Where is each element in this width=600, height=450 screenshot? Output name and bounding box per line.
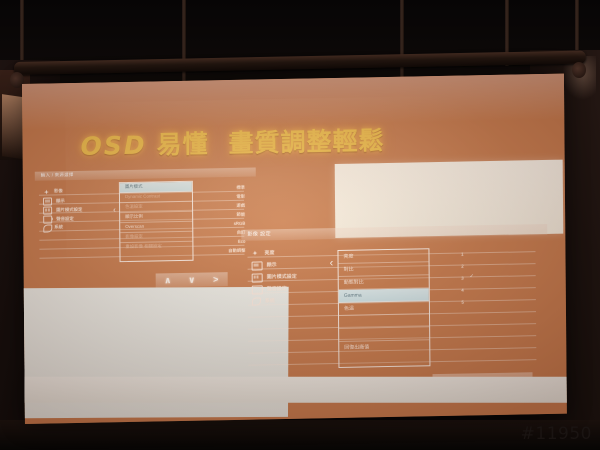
osd-item-label: 圖片模式設定 <box>56 207 82 212</box>
wrench-icon <box>43 224 50 230</box>
page-title: OSD易懂畫質調整輕鬆 <box>80 119 500 161</box>
nav-up-button[interactable]: ∧ <box>156 276 180 285</box>
nav-right-button[interactable]: > <box>204 275 228 284</box>
osd-item-input[interactable]: 影像 <box>43 188 63 195</box>
brightness-diamond-icon <box>251 249 260 258</box>
osd-menu-panel-1[interactable]: 輸入 / 來源選擇 影像 顯示 圖片模式設定 <box>35 168 251 292</box>
osd-item-picture-settings[interactable]: 圖片模式設定 <box>43 206 82 214</box>
osd-item-label: 影像 <box>54 190 63 195</box>
page-title-cjk-1: 易懂 <box>156 129 208 159</box>
wrench-icon <box>252 297 261 305</box>
osd-header-1: 輸入 / 來源選擇 <box>35 168 256 181</box>
osd-submenu-row[interactable]: 重設影像 相關設定 <box>120 242 192 252</box>
speaker-icon <box>252 285 263 294</box>
monitor-icon <box>43 197 52 205</box>
osd-header-title: 影像 設定 <box>247 232 271 238</box>
osd-value[interactable]: sRGB <box>234 222 246 227</box>
osd-item-audio[interactable]: 聲音設定 <box>43 215 74 223</box>
checkmark-icon: ✓ <box>470 274 474 279</box>
osd-item-label: 亮度 <box>264 251 274 256</box>
osd-submenu-1[interactable]: 圖片模式 Dynamic Contrast 色溫設定 顯示比例 Overscan… <box>119 181 194 262</box>
osd-item-label: 顯示 <box>56 199 65 204</box>
osd-index: 1 <box>461 253 463 257</box>
osd-menu-panel-2[interactable]: 影像 設定 亮度 顯示 圖片模式設定 <box>241 224 542 395</box>
osd-value-list-1: 標準 電影 遊戲 節能 sRGB 自訂 Eco 自動調整 <box>195 182 246 263</box>
watermark: #11950 <box>521 424 592 444</box>
brightness-diamond-icon <box>43 188 50 195</box>
photo-scene: OSD易懂畫質調整輕鬆 輸入 / 來源選擇 影像 <box>0 0 600 450</box>
chevron-left-icon: ‹ <box>113 206 116 214</box>
osd-item-label: 系統 <box>54 225 63 230</box>
osd-value[interactable]: 節能 <box>237 213 246 217</box>
picture-settings-icon <box>252 273 263 282</box>
osd-item-label: 圖片模式設定 <box>267 275 297 281</box>
osd-submenu-2[interactable]: 亮度 對比 動態對比 Gamma 色溫 回復出廠值 <box>337 248 430 368</box>
osd-value[interactable]: 遊戲 <box>236 204 245 208</box>
osd-value[interactable]: 電影 <box>236 195 245 199</box>
osd-item-label: 聲音設定 <box>267 287 287 292</box>
osd-item-label: 系統 <box>265 299 275 304</box>
osd-item-brightness[interactable]: 亮度 <box>251 249 274 258</box>
osd-item-picture-settings[interactable]: 圖片模式設定 <box>252 273 297 283</box>
osd-item-audio[interactable]: 聲音設定 <box>252 285 287 295</box>
chevron-left-icon: ‹ <box>330 258 334 269</box>
osd-item-display[interactable]: 顯示 <box>43 197 65 205</box>
room-floor <box>0 420 600 450</box>
osd-item-system[interactable]: 系統 <box>252 297 275 305</box>
page-title-en: OSD <box>80 131 146 161</box>
monitor-icon <box>252 261 263 270</box>
osd-index: 3 <box>461 277 463 281</box>
osd-header-2: 影像 設定 <box>241 224 547 241</box>
support-pole <box>182 0 186 90</box>
osd-nav-bar-1[interactable]: ∧ ∨ > <box>156 272 228 287</box>
roller-end-cap-right <box>572 62 586 78</box>
osd-index: 5 <box>461 301 463 305</box>
speaker-icon <box>43 215 52 223</box>
osd-index: 2 <box>461 265 463 269</box>
page-title-cjk-2: 畫質調整輕鬆 <box>228 126 384 158</box>
osd-index: 4 <box>461 289 463 293</box>
slide-white-strip <box>22 377 567 403</box>
nav-down-button[interactable]: ∨ <box>180 275 204 284</box>
osd-item-label: 聲音設定 <box>56 217 74 222</box>
osd-item-label: 顯示 <box>267 263 277 268</box>
osd-submenu-row[interactable]: 回復出廠值 <box>339 340 429 354</box>
osd-index-list-2: 1 2 3 4 5 <box>437 249 490 350</box>
osd-header-title: 輸入 / 來源選擇 <box>41 173 74 178</box>
osd-value[interactable]: 標準 <box>236 186 245 190</box>
projection-screen: OSD易懂畫質調整輕鬆 輸入 / 來源選擇 影像 <box>22 74 567 424</box>
picture-settings-icon <box>43 206 52 214</box>
osd-item-display[interactable]: 顯示 <box>252 261 277 270</box>
osd-item-system[interactable]: 系統 <box>43 224 63 230</box>
